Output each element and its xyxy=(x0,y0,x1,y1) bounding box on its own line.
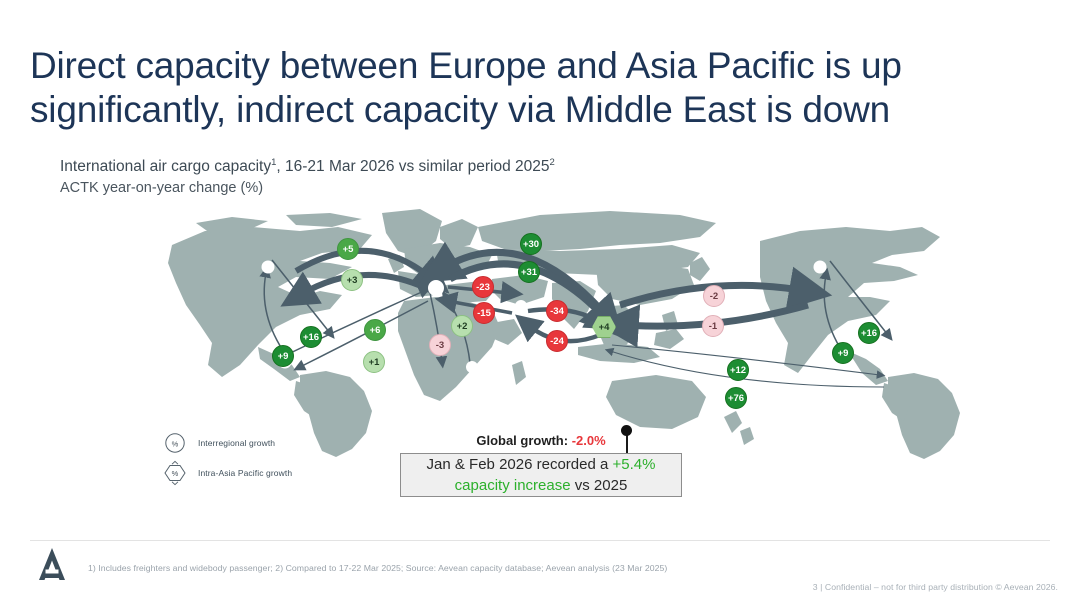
map-marker-plus9[interactable]: +9 xyxy=(272,345,294,367)
map-marker-minus2[interactable]: -2 xyxy=(703,285,725,307)
legend: % Interregional growth % Intra-Asia Paci… xyxy=(160,428,420,488)
svg-text:%: % xyxy=(172,439,179,448)
callout-highlight-phrase: capacity increase xyxy=(455,477,571,494)
map-marker-minus15[interactable]: -15 xyxy=(473,302,495,324)
map-marker-plus6[interactable]: +6 xyxy=(364,319,386,341)
callout-text: Jan & Feb 2026 recorded a +5.4% capacity… xyxy=(427,454,656,496)
legend-label-intra-asia: Intra-Asia Pacific growth xyxy=(198,468,292,478)
world-map: +5+3+16+9+6+1-3+2-23-15-34-24+30+31+4-2-… xyxy=(0,205,1080,465)
map-marker-plus1[interactable]: +1 xyxy=(363,351,385,373)
map-marker-plus76[interactable]: +76 xyxy=(725,387,747,409)
map-marker-plus31[interactable]: +31 xyxy=(518,261,540,283)
map-marker-minus34[interactable]: -34 xyxy=(546,300,568,322)
map-marker-minus3[interactable]: -3 xyxy=(429,334,451,356)
map-marker-plus2[interactable]: +2 xyxy=(451,315,473,337)
footer-divider xyxy=(30,540,1050,541)
subtitle-text-a: International air cargo capacity xyxy=(60,158,271,175)
callout-part1: Jan & Feb 2026 recorded a xyxy=(427,456,613,473)
hexagon-percent-icon: % xyxy=(160,459,194,487)
chart-subtitle: International air cargo capacity1, 16-21… xyxy=(60,152,960,178)
map-marker-minus24[interactable]: -24 xyxy=(546,330,568,352)
map-marker-plus16[interactable]: +16 xyxy=(300,326,322,348)
slide: Direct capacity between Europe and Asia … xyxy=(0,0,1080,608)
footnote-text: 1) Includes freighters and widebody pass… xyxy=(88,563,948,573)
callout-box: Jan & Feb 2026 recorded a +5.4% capacity… xyxy=(400,453,682,497)
map-marker-minus1[interactable]: -1 xyxy=(702,315,724,337)
global-growth-value: -2.0% xyxy=(572,433,606,448)
global-growth: Global growth: -2.0% xyxy=(400,433,682,448)
chart-unit-label: ACTK year-on-year change (%) xyxy=(60,178,960,198)
map-marker-plus12[interactable]: +12 xyxy=(727,359,749,381)
confidential-text: 3 | Confidential – not for third party d… xyxy=(813,582,1058,592)
map-marker-plus9[interactable]: +9 xyxy=(832,342,854,364)
map-marker-plus5[interactable]: +5 xyxy=(337,238,359,260)
callout-part2: vs 2025 xyxy=(571,477,628,494)
aevean-logo-icon xyxy=(30,542,74,586)
callout-highlight-percent: +5.4% xyxy=(613,456,656,473)
subtitle-text-b: , 16-21 Mar 2026 vs similar period 2025 xyxy=(276,158,549,175)
map-marker-plus30[interactable]: +30 xyxy=(520,233,542,255)
map-marker-plus3[interactable]: +3 xyxy=(341,269,363,291)
legend-label-interregional: Interregional growth xyxy=(198,438,275,448)
legend-item-interregional: % Interregional growth xyxy=(160,428,420,458)
subtitle-footnote-ref-2: 2 xyxy=(550,157,555,168)
map-marker-plus16[interactable]: +16 xyxy=(858,322,880,344)
legend-item-intra-asia: % Intra-Asia Pacific growth xyxy=(160,458,420,488)
map-marker-minus23[interactable]: -23 xyxy=(472,276,494,298)
global-growth-label: Global growth: xyxy=(476,433,568,448)
page-title: Direct capacity between Europe and Asia … xyxy=(30,44,1030,132)
svg-text:%: % xyxy=(172,469,179,478)
circle-percent-icon: % xyxy=(160,429,194,457)
